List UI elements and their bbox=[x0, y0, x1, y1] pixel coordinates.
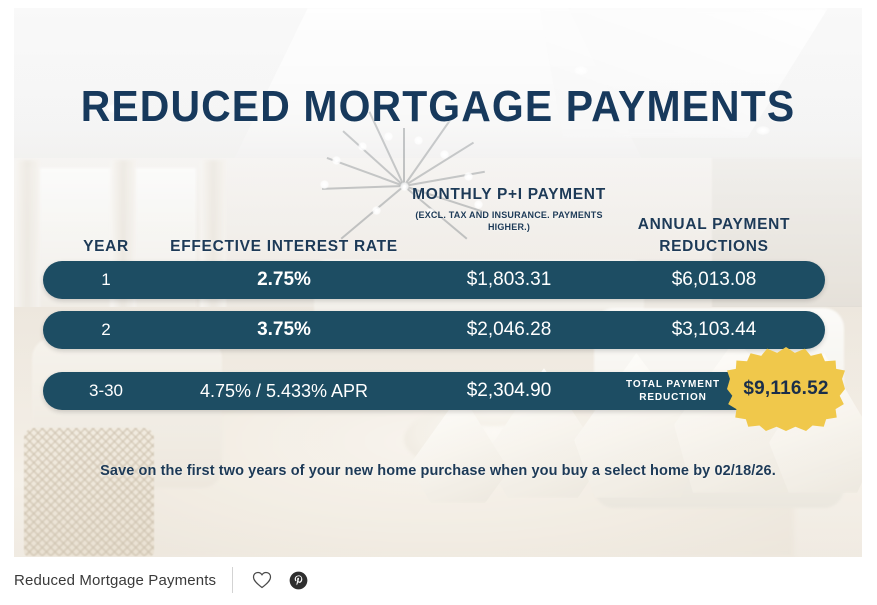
total-label-line-1: TOTAL PAYMENT bbox=[626, 378, 720, 391]
pin-image-card[interactable]: REDUCED MORTGAGE PAYMENTS YEAR EFFECTIVE… bbox=[14, 8, 862, 557]
total-reduction-starburst-badge: $9,116.52 bbox=[727, 347, 845, 431]
column-header-annual-payment-reductions: ANNUAL PAYMENT REDUCTIONS bbox=[599, 214, 829, 258]
cell-payment: $2,046.28 bbox=[409, 311, 609, 349]
table-row: 2 3.75% $2,046.28 $3,103.44 bbox=[43, 311, 825, 349]
caption-bar: Reduced Mortgage Payments bbox=[14, 562, 862, 598]
cell-year: 3-30 bbox=[60, 372, 152, 410]
cell-payment: $2,304.90 bbox=[409, 372, 609, 410]
favorite-button[interactable] bbox=[249, 567, 275, 593]
table-header-row: YEAR EFFECTIVE INTEREST RATE MONTHLY P+I… bbox=[14, 178, 862, 248]
total-payment-reduction-label: TOTAL PAYMENT REDUCTION bbox=[608, 372, 738, 410]
promo-disclaimer: Save on the first two years of your new … bbox=[14, 463, 862, 479]
total-label-line-2: REDUCTION bbox=[639, 391, 707, 404]
column-header-year: YEAR bbox=[60, 238, 152, 256]
table-row: 1 2.75% $1,803.31 $6,013.08 bbox=[43, 261, 825, 299]
cell-rate: 3.75% bbox=[154, 311, 414, 349]
pinterest-icon bbox=[289, 571, 308, 590]
image-caption: Reduced Mortgage Payments bbox=[14, 572, 216, 589]
caption-divider bbox=[232, 567, 233, 593]
column-header-monthly-payment-fineprint: (EXCL. TAX AND INSURANCE. PAYMENTS HIGHE… bbox=[409, 209, 609, 233]
cell-rate: 4.75% / 5.433% APR bbox=[154, 372, 414, 410]
cell-rate: 2.75% bbox=[154, 261, 414, 299]
cell-year: 1 bbox=[60, 261, 152, 299]
column-header-monthly-payment-text: MONTHLY P+I PAYMENT bbox=[412, 186, 606, 203]
total-reduction-amount: $9,116.52 bbox=[743, 378, 828, 400]
pinterest-save-button[interactable] bbox=[285, 567, 311, 593]
heart-icon bbox=[252, 571, 272, 589]
cell-reduction: $6,013.08 bbox=[599, 261, 829, 299]
table-row: 3-30 4.75% / 5.433% APR $2,304.90 TOTAL … bbox=[43, 372, 825, 410]
page-title: REDUCED MORTGAGE PAYMENTS bbox=[44, 82, 833, 132]
cell-reduction: $3,103.44 bbox=[599, 311, 829, 349]
cell-year: 2 bbox=[60, 311, 152, 349]
column-header-monthly-payment: MONTHLY P+I PAYMENT (EXCL. TAX AND INSUR… bbox=[409, 184, 609, 233]
page-root: REDUCED MORTGAGE PAYMENTS YEAR EFFECTIVE… bbox=[0, 0, 877, 605]
graphic-overlay: REDUCED MORTGAGE PAYMENTS YEAR EFFECTIVE… bbox=[14, 8, 862, 557]
column-header-effective-interest-rate: EFFECTIVE INTEREST RATE bbox=[154, 238, 414, 256]
cell-payment: $1,803.31 bbox=[409, 261, 609, 299]
